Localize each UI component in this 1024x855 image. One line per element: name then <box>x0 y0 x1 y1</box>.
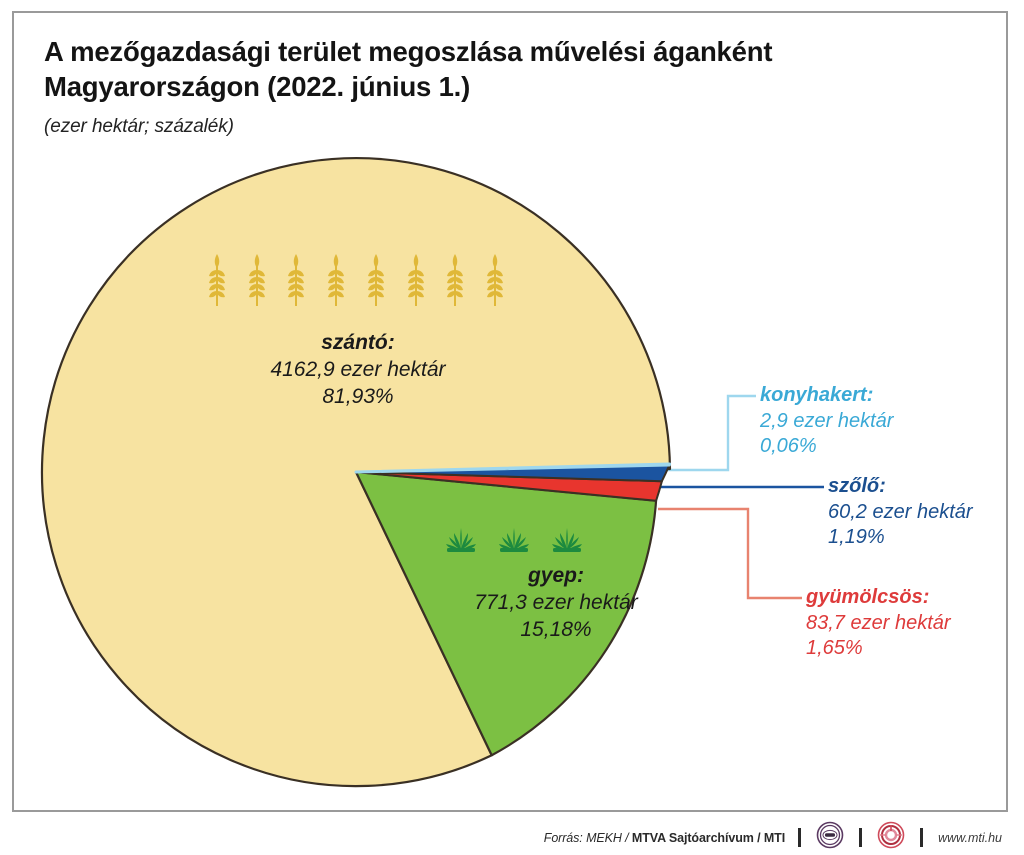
leader-line-gyumolcsos <box>658 509 802 598</box>
callout-label-szolo: szőlő: 60,2 ezer hektár 1,19% <box>828 474 973 551</box>
footer-divider-3 <box>920 828 923 847</box>
footer-divider-1 <box>798 828 801 847</box>
mtva-circle-logo <box>816 821 844 854</box>
callout-label-gyumolcsos: gyümölcsös: 83,7 ezer hektár 1,65% <box>806 585 951 662</box>
pie-slices <box>42 158 670 786</box>
footer-url[interactable]: www.mti.hu <box>938 831 1002 845</box>
callout-konyhakert-name: konyhakert: <box>760 383 893 409</box>
footer: Forrás: MEKH / MTVA Sajtóarchívum / MTI <box>0 820 1024 855</box>
footer-source-separator: / <box>622 831 632 845</box>
callout-konyhakert-percent: 0,06% <box>760 434 893 460</box>
pie-chart: szántó: 4162,9 ezer hektár 81,93% gyep: … <box>0 0 1024 813</box>
callout-gyumolcsos-percent: 1,65% <box>806 636 951 662</box>
infographic-root: A mezőgazdasági terület megoszlása művel… <box>0 0 1024 855</box>
mti-circle-logo <box>877 821 905 854</box>
callout-szolo-name: szőlő: <box>828 474 973 500</box>
callout-szolo-percent: 1,19% <box>828 525 973 551</box>
leader-line-konyhakert <box>664 396 756 470</box>
footer-source-text: Forrás: MEKH / MTVA Sajtóarchívum / MTI <box>544 831 785 845</box>
footer-source-prefix: Forrás: <box>544 831 586 845</box>
callout-label-konyhakert: konyhakert: 2,9 ezer hektár 0,06% <box>760 383 893 460</box>
callout-gyumolcsos-name: gyümölcsös: <box>806 585 951 611</box>
footer-divider-2 <box>859 828 862 847</box>
callout-szolo-value: 60,2 ezer hektár <box>828 500 973 526</box>
callout-konyhakert-value: 2,9 ezer hektár <box>760 409 893 435</box>
callout-gyumolcsos-value: 83,7 ezer hektár <box>806 611 951 637</box>
footer-source-mekh: MEKH <box>586 831 622 845</box>
footer-source-mtva: MTVA Sajtóarchívum / MTI <box>632 831 785 845</box>
